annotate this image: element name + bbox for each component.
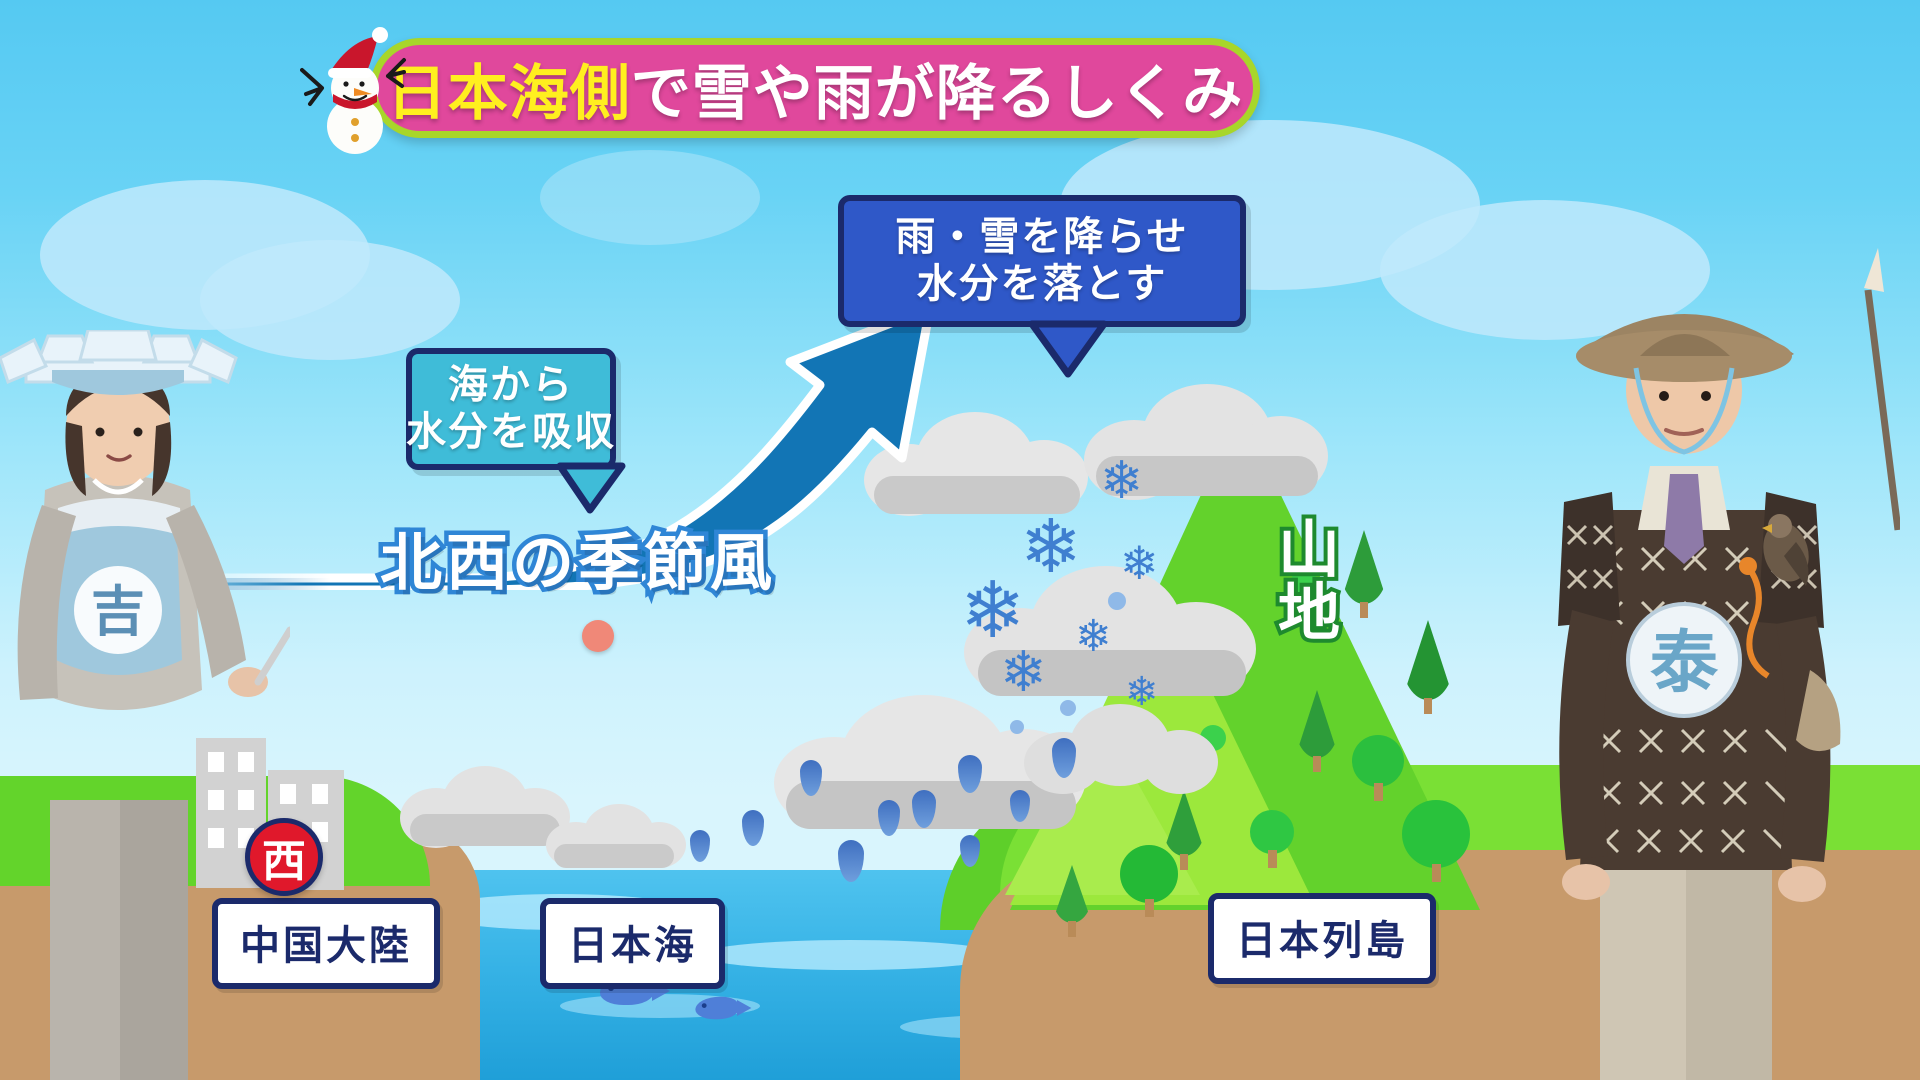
bubble-absorb-tail (556, 462, 626, 514)
cloud-icon (1020, 700, 1220, 795)
bubble-absorb-line2: 水分を吸収 (406, 409, 616, 456)
bubble-absorb-line1: 海から (448, 362, 574, 409)
svg-text:泰: 泰 (1650, 624, 1719, 703)
title-text: 日本海側で雪や雨が降るしくみ (387, 45, 1243, 132)
bubble-absorb-moisture: 海から 水分を吸収 (406, 348, 616, 470)
title-banner: 日本海側で雪や雨が降るしくみ (370, 38, 1260, 138)
snow-dot-icon (1060, 700, 1076, 716)
box-label-sea-of-japan: 日本海 (540, 898, 725, 989)
conifer-tree-icon (1052, 865, 1092, 937)
soft-sky-cloud (540, 150, 760, 245)
label-mountain-line2: 地 (1278, 581, 1342, 644)
box-label-japan-islands: 日本列島 (1208, 893, 1436, 984)
conifer-tree-icon (1295, 690, 1339, 772)
bubble-precipitate: 雨・雪を降らせ 水分を落とす (838, 195, 1246, 327)
snow-dot-icon (1108, 592, 1126, 610)
sea-wave (700, 940, 1000, 970)
snowflake-icon: ❄ (1000, 645, 1047, 701)
conifer-tree-icon (1340, 530, 1388, 618)
snowman-icon (300, 26, 410, 156)
label-northwest-monsoon: 北西の季節風 (380, 512, 776, 602)
conifer-tree-icon (1402, 620, 1454, 714)
snow-dot-icon (1010, 720, 1024, 734)
title-rest: で雪や雨が降るしくみ (631, 59, 1243, 129)
snowflake-icon: ❄ (1020, 510, 1082, 584)
presenter-left-snow-costume: 吉 (0, 330, 290, 1080)
svg-text:吉: 吉 (91, 580, 145, 643)
round-tree-icon (1250, 810, 1294, 868)
label-mountain-area: 山 地 (1278, 518, 1342, 644)
snowflake-icon: ❄ (1075, 615, 1112, 659)
pointer-dot-icon (582, 620, 614, 652)
snowflake-icon: ❄ (1125, 672, 1159, 712)
presenter-right-samurai-costume: 泰 (1480, 230, 1900, 1080)
bubble-precipitate-line1: 雨・雪を降らせ (895, 214, 1188, 261)
title-highlight: 日本海側 (387, 59, 631, 129)
snowflake-icon: ❄ (1100, 455, 1144, 507)
bubble-precipitate-tail (1028, 320, 1108, 378)
bubble-precipitate-line2: 水分を落とす (917, 261, 1168, 308)
weather-explainer-scene: ❄ ❄ ❄ ❄ ❄ ❄ ❄ 海から (0, 0, 1920, 1080)
cloud-icon (540, 800, 690, 870)
round-tree-icon (1352, 735, 1404, 801)
round-tree-icon (1402, 800, 1470, 882)
round-tree-icon (1120, 845, 1178, 917)
fish-icon (695, 997, 738, 1019)
snowflake-icon: ❄ (1120, 540, 1159, 586)
label-mountain-line1: 山 (1278, 518, 1342, 581)
